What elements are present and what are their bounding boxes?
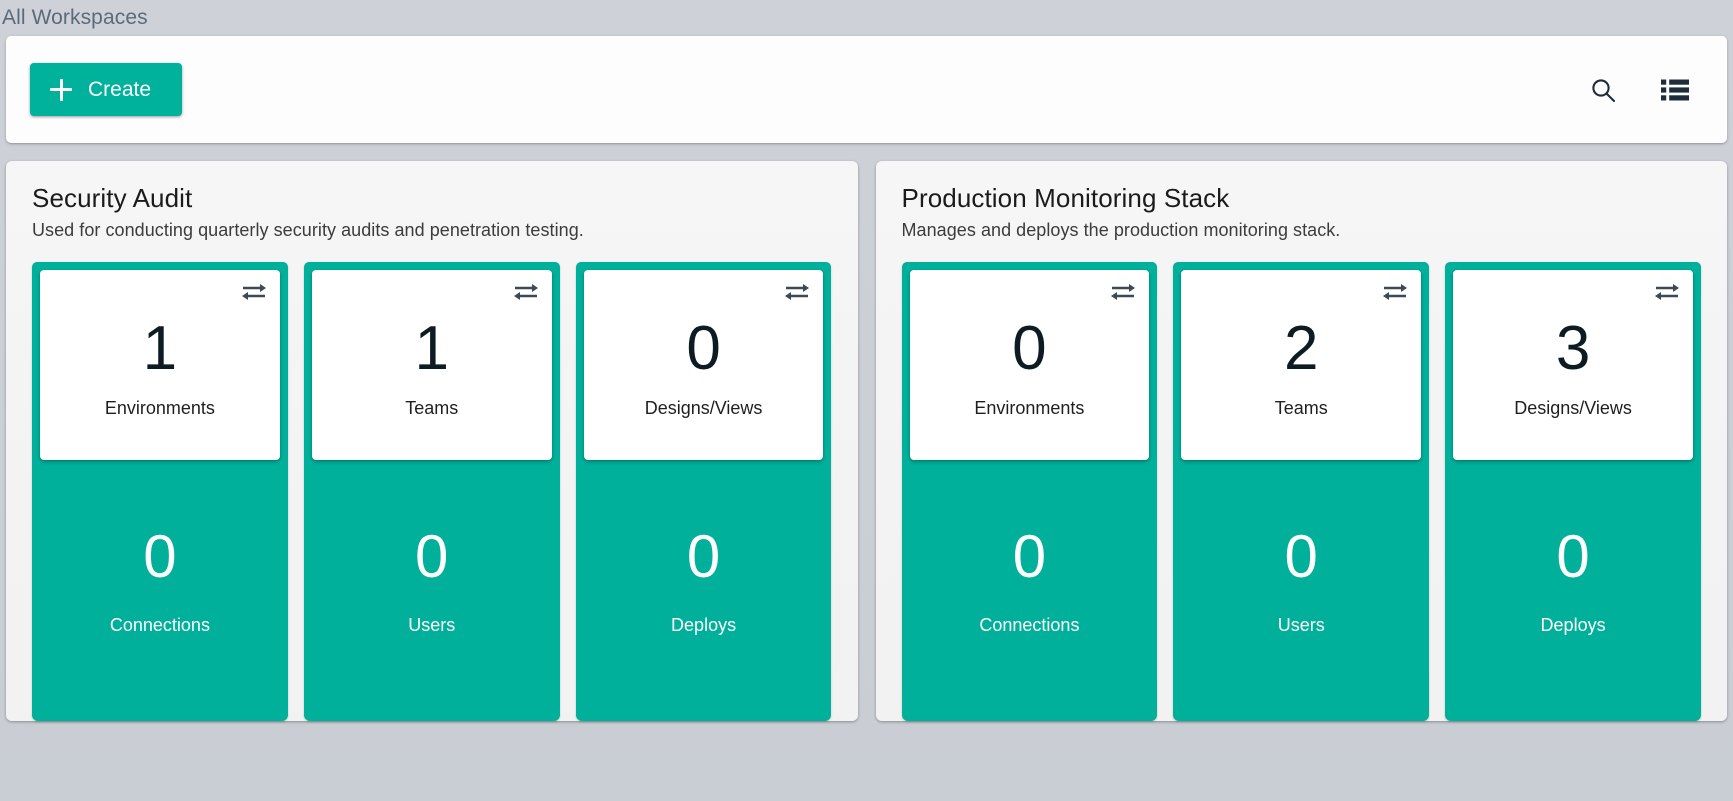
stat-value: 1 (143, 318, 177, 380)
stat-value: 0 (687, 527, 720, 587)
stat-tile-bottom[interactable]: 0 Deploys (584, 460, 824, 721)
toolbar-actions (1585, 72, 1705, 108)
stat-label: Deploys (671, 615, 736, 636)
stat-tile-top[interactable]: 2 Teams (1181, 270, 1421, 460)
plus-icon (50, 79, 72, 101)
search-icon (1589, 76, 1617, 104)
swap-icon[interactable] (513, 282, 539, 302)
stat-tile-bottom[interactable]: 0 Users (1181, 460, 1421, 721)
stat-value: 0 (1012, 318, 1046, 380)
stat-value: 0 (143, 527, 176, 587)
workspace-grid: Security Audit Used for conducting quart… (0, 143, 1733, 721)
stat-tile-top[interactable]: 1 Environments (40, 270, 280, 460)
swap-icon[interactable] (1654, 282, 1680, 302)
workspace-card[interactable]: Security Audit Used for conducting quart… (6, 161, 858, 721)
stat-value: 0 (1285, 527, 1318, 587)
stat-label: Environments (105, 398, 215, 419)
stat-tile-bottom[interactable]: 0 Connections (40, 460, 280, 721)
stat-label: Users (408, 615, 455, 636)
workspace-card[interactable]: Production Monitoring Stack Manages and … (876, 161, 1728, 721)
swap-icon[interactable] (241, 282, 267, 302)
stat-value: 0 (1013, 527, 1046, 587)
workspace-title: Security Audit (32, 183, 832, 214)
stat-tile-top[interactable]: 0 Designs/Views (584, 270, 824, 460)
search-button[interactable] (1585, 72, 1621, 108)
stat-label: Teams (405, 398, 458, 419)
stat-value: 2 (1284, 318, 1318, 380)
stat-tile-top[interactable]: 3 Designs/Views (1453, 270, 1693, 460)
stat-tile-top[interactable]: 0 Environments (910, 270, 1150, 460)
stat-tile-teams[interactable]: 1 Teams 0 Users (304, 262, 560, 721)
stat-label: Users (1278, 615, 1325, 636)
stats-row: 0 Environments 0 Connections (902, 262, 1702, 721)
swap-icon[interactable] (784, 282, 810, 302)
stats-row: 1 Environments 0 Connections (32, 262, 832, 721)
stat-label: Connections (979, 615, 1079, 636)
stat-label: Deploys (1541, 615, 1606, 636)
stat-tile-designs-views[interactable]: 3 Designs/Views 0 Deploys (1445, 262, 1701, 721)
stat-value: 0 (686, 318, 720, 380)
stat-value: 1 (415, 318, 449, 380)
stat-tile-top[interactable]: 1 Teams (312, 270, 552, 460)
stat-label: Environments (974, 398, 1084, 419)
workspaces-toolbar: Create (6, 36, 1727, 143)
stat-label: Designs/Views (1514, 398, 1632, 419)
stat-value: 0 (1556, 527, 1589, 587)
create-button-label: Create (88, 78, 151, 102)
swap-icon[interactable] (1110, 282, 1136, 302)
stat-label: Connections (110, 615, 210, 636)
swap-icon[interactable] (1382, 282, 1408, 302)
breadcrumb-label: All Workspaces (2, 6, 148, 30)
stat-tile-teams[interactable]: 2 Teams 0 Users (1173, 262, 1429, 721)
stat-tile-environments[interactable]: 0 Environments 0 Connections (902, 262, 1158, 721)
workspace-description: Manages and deploys the production monit… (902, 220, 1702, 241)
stat-tile-bottom[interactable]: 0 Connections (910, 460, 1150, 721)
list-view-button[interactable] (1657, 74, 1693, 106)
stat-tile-designs-views[interactable]: 0 Designs/Views 0 Deploys (576, 262, 832, 721)
stat-value: 0 (415, 527, 448, 587)
stat-label: Teams (1275, 398, 1328, 419)
breadcrumb: All Workspaces (0, 0, 1733, 36)
create-button[interactable]: Create (30, 63, 182, 116)
list-view-icon (1661, 78, 1689, 102)
stat-tile-environments[interactable]: 1 Environments 0 Connections (32, 262, 288, 721)
stat-tile-bottom[interactable]: 0 Deploys (1453, 460, 1693, 721)
stat-label: Designs/Views (645, 398, 763, 419)
stat-value: 3 (1556, 318, 1590, 380)
workspace-description: Used for conducting quarterly security a… (32, 220, 832, 241)
workspace-title: Production Monitoring Stack (902, 183, 1702, 214)
stat-tile-bottom[interactable]: 0 Users (312, 460, 552, 721)
